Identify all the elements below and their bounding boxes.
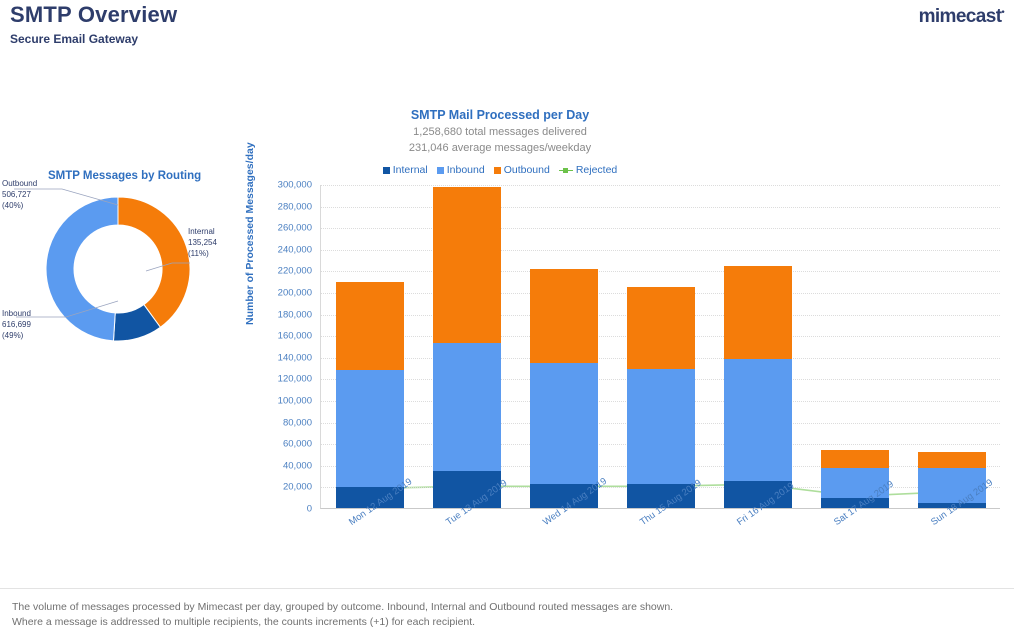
bar-chart-legend: InternalInboundOutboundRejected xyxy=(240,164,760,176)
bar-group[interactable] xyxy=(433,184,501,508)
trademark-mark: • xyxy=(1001,7,1004,17)
donut-label-internal: Internal 135,254 (11%) xyxy=(188,226,217,259)
page-title: SMTP Overview xyxy=(10,2,177,28)
y-axis-tick-label: 100,000 xyxy=(254,396,312,407)
legend-swatch-internal xyxy=(383,167,390,174)
bar-segment-inbound[interactable] xyxy=(336,370,404,488)
donut-label-outbound: Outbound 506,727 (40%) xyxy=(2,178,37,211)
bar-segment-outbound[interactable] xyxy=(433,187,501,343)
y-axis-tick-label: 140,000 xyxy=(254,352,312,363)
footer-line-2: Where a message is addressed to multiple… xyxy=(12,615,992,630)
y-axis-tick-label: 180,000 xyxy=(254,309,312,320)
bar-group[interactable] xyxy=(336,184,404,508)
legend-label-inbound: Inbound xyxy=(447,164,485,176)
legend-marker-line-rejected xyxy=(559,167,573,174)
bar-segment-outbound[interactable] xyxy=(530,269,598,363)
footer-divider xyxy=(0,588,1014,589)
legend-item-inbound[interactable]: Inbound xyxy=(437,164,485,176)
plot-wrapper: Number of Processed Messages/day 020,000… xyxy=(240,185,1014,595)
bar-chart-subtitle-total: 1,258,680 total messages delivered xyxy=(240,126,760,138)
donut-label-internal-name: Internal xyxy=(188,226,217,237)
y-axis-tick-label: 200,000 xyxy=(254,288,312,299)
mimecast-logo: mimecast• xyxy=(919,6,1004,28)
bar-chart-subtitle-average: 231,046 average messages/weekday xyxy=(240,142,760,154)
bar-segment-outbound[interactable] xyxy=(336,282,404,369)
y-axis-tick-label: 280,000 xyxy=(254,201,312,212)
bar-chart-panel: SMTP Mail Processed per Day 1,258,680 to… xyxy=(240,100,1014,595)
bar-segment-outbound[interactable] xyxy=(627,287,695,369)
legend-label-internal: Internal xyxy=(393,164,428,176)
bar-segment-inbound[interactable] xyxy=(530,363,598,484)
bar-group[interactable] xyxy=(918,184,986,508)
y-axis-tick-label: 20,000 xyxy=(254,482,312,493)
legend-item-rejected[interactable]: Rejected xyxy=(559,164,617,176)
y-axis-tick-label: 80,000 xyxy=(254,417,312,428)
y-axis-tick-label: 0 xyxy=(254,504,312,515)
footer-description: The volume of messages processed by Mime… xyxy=(12,600,992,630)
legend-label-rejected: Rejected xyxy=(576,164,617,176)
y-axis-tick-label: 240,000 xyxy=(254,244,312,255)
legend-swatch-inbound xyxy=(437,167,444,174)
y-axis-tick-label: 300,000 xyxy=(254,180,312,191)
y-axis-tick-label: 60,000 xyxy=(254,439,312,450)
legend-label-outbound: Outbound xyxy=(504,164,550,176)
y-axis-tick-label: 160,000 xyxy=(254,331,312,342)
donut-label-inbound-percent: (49%) xyxy=(2,330,31,341)
donut-label-outbound-name: Outbound xyxy=(2,178,37,189)
y-axis-tick-label: 220,000 xyxy=(254,266,312,277)
legend-item-outbound[interactable]: Outbound xyxy=(494,164,550,176)
page-header: SMTP Overview Secure Email Gateway mimec… xyxy=(0,0,1014,52)
donut-leader-lines xyxy=(0,165,250,360)
bar-segment-inbound[interactable] xyxy=(627,369,695,485)
bar-chart-title: SMTP Mail Processed per Day xyxy=(240,108,760,122)
bar-segment-outbound[interactable] xyxy=(724,266,792,359)
donut-label-outbound-value: 506,727 xyxy=(2,189,37,200)
donut-label-inbound: Inbound 616,699 (49%) xyxy=(2,308,31,341)
bar-group[interactable] xyxy=(627,184,695,508)
donut-label-inbound-value: 616,699 xyxy=(2,319,31,330)
footer-line-1: The volume of messages processed by Mime… xyxy=(12,600,992,615)
donut-label-inbound-name: Inbound xyxy=(2,308,31,319)
bar-group[interactable] xyxy=(724,184,792,508)
donut-label-outbound-percent: (40%) xyxy=(2,200,37,211)
page-subtitle: Secure Email Gateway xyxy=(10,32,138,46)
y-axis-tick-label: 120,000 xyxy=(254,374,312,385)
y-axis-tick-labels: 020,00040,00060,00080,000100,000120,0001… xyxy=(254,185,312,525)
brand-name: mimecast xyxy=(919,6,1002,27)
bar-segment-inbound[interactable] xyxy=(433,343,501,472)
bar-segment-outbound[interactable] xyxy=(918,452,986,468)
legend-swatch-outbound xyxy=(494,167,501,174)
donut-label-internal-percent: (11%) xyxy=(188,248,217,259)
bar-segment-outbound[interactable] xyxy=(821,450,889,468)
bar-group[interactable] xyxy=(821,184,889,508)
donut-label-internal-value: 135,254 xyxy=(188,237,217,248)
y-axis-tick-label: 40,000 xyxy=(254,460,312,471)
plot-area xyxy=(320,185,1000,509)
legend-item-internal[interactable]: Internal xyxy=(383,164,428,176)
y-axis-tick-label: 260,000 xyxy=(254,223,312,234)
bar-group[interactable] xyxy=(530,184,598,508)
bar-segment-inbound[interactable] xyxy=(724,359,792,481)
